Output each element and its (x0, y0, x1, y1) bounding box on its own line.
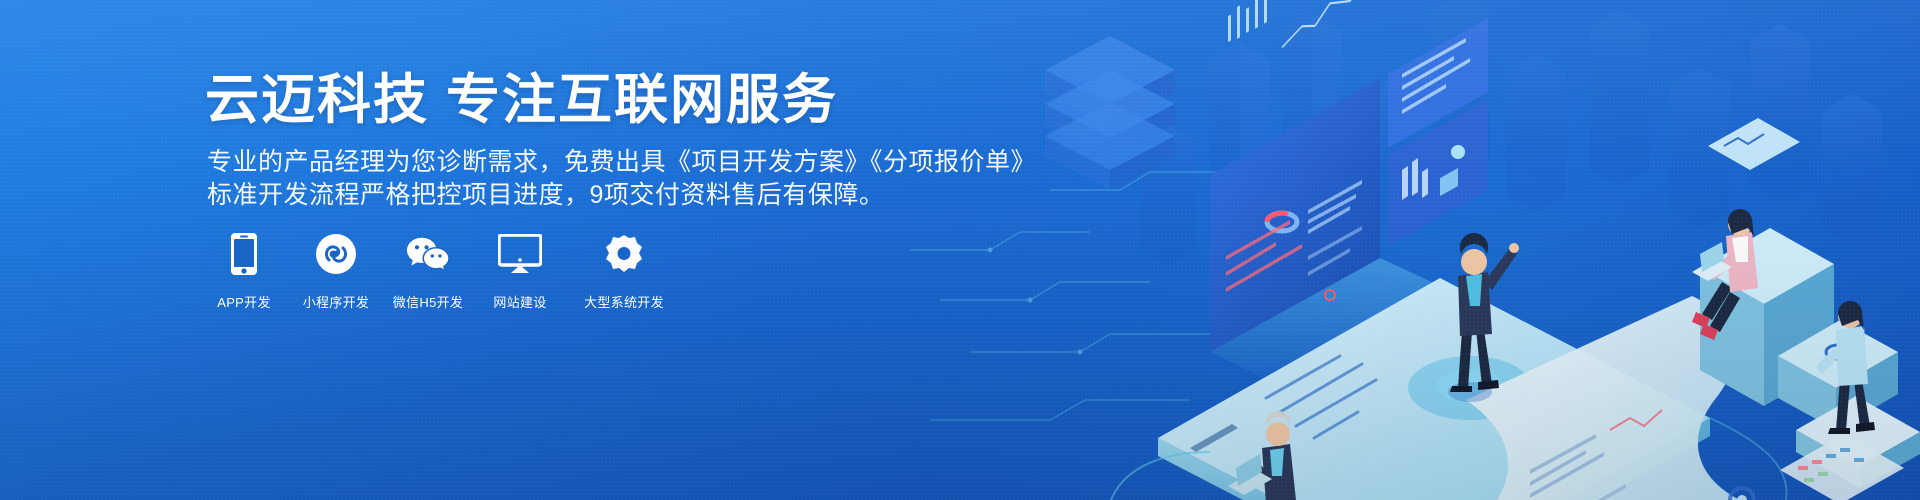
mobile-phone-icon (222, 232, 266, 276)
mini-program-icon (314, 232, 358, 276)
service-item-large-system[interactable]: 大型系统开发 (576, 232, 672, 311)
gear-icon (602, 232, 646, 276)
banner-content: 云迈科技 专注互联网服务 专业的产品经理为您诊断需求，免费出具《项目开发方案》《… (205, 0, 1105, 500)
service-item-app[interactable]: APP开发 (208, 232, 280, 311)
service-list: APP开发 小程序开发 (208, 232, 672, 311)
service-label: 小程序开发 (303, 292, 370, 311)
service-label: APP开发 (217, 292, 271, 311)
page-title: 云迈科技 专注互联网服务 (205, 70, 838, 130)
monitor-icon (498, 232, 542, 276)
service-item-website[interactable]: 网站建设 (484, 232, 556, 311)
subtitle-line-1: 专业的产品经理为您诊断需求，免费出具《项目开发方案》《分项报价单》 (207, 146, 1036, 179)
service-item-mini-program[interactable]: 小程序开发 (300, 232, 372, 311)
service-item-wechat-h5[interactable]: 微信H5开发 (392, 232, 464, 311)
subtitle-line-2: 标准开发流程严格把控项目进度，9项交付资料售后有保障。 (207, 179, 1036, 212)
hero-banner: 云迈科技 专注互联网服务 专业的产品经理为您诊断需求，免费出具《项目开发方案》《… (0, 0, 1920, 500)
service-label: 微信H5开发 (393, 292, 463, 311)
screen-bar-chart (1228, 0, 1267, 42)
service-label: 大型系统开发 (584, 292, 664, 311)
service-label: 网站建设 (493, 292, 546, 311)
wechat-icon (406, 232, 450, 276)
subtitle-block: 专业的产品经理为您诊断需求，免费出具《项目开发方案》《分项报价单》 标准开发流程… (207, 146, 1036, 212)
